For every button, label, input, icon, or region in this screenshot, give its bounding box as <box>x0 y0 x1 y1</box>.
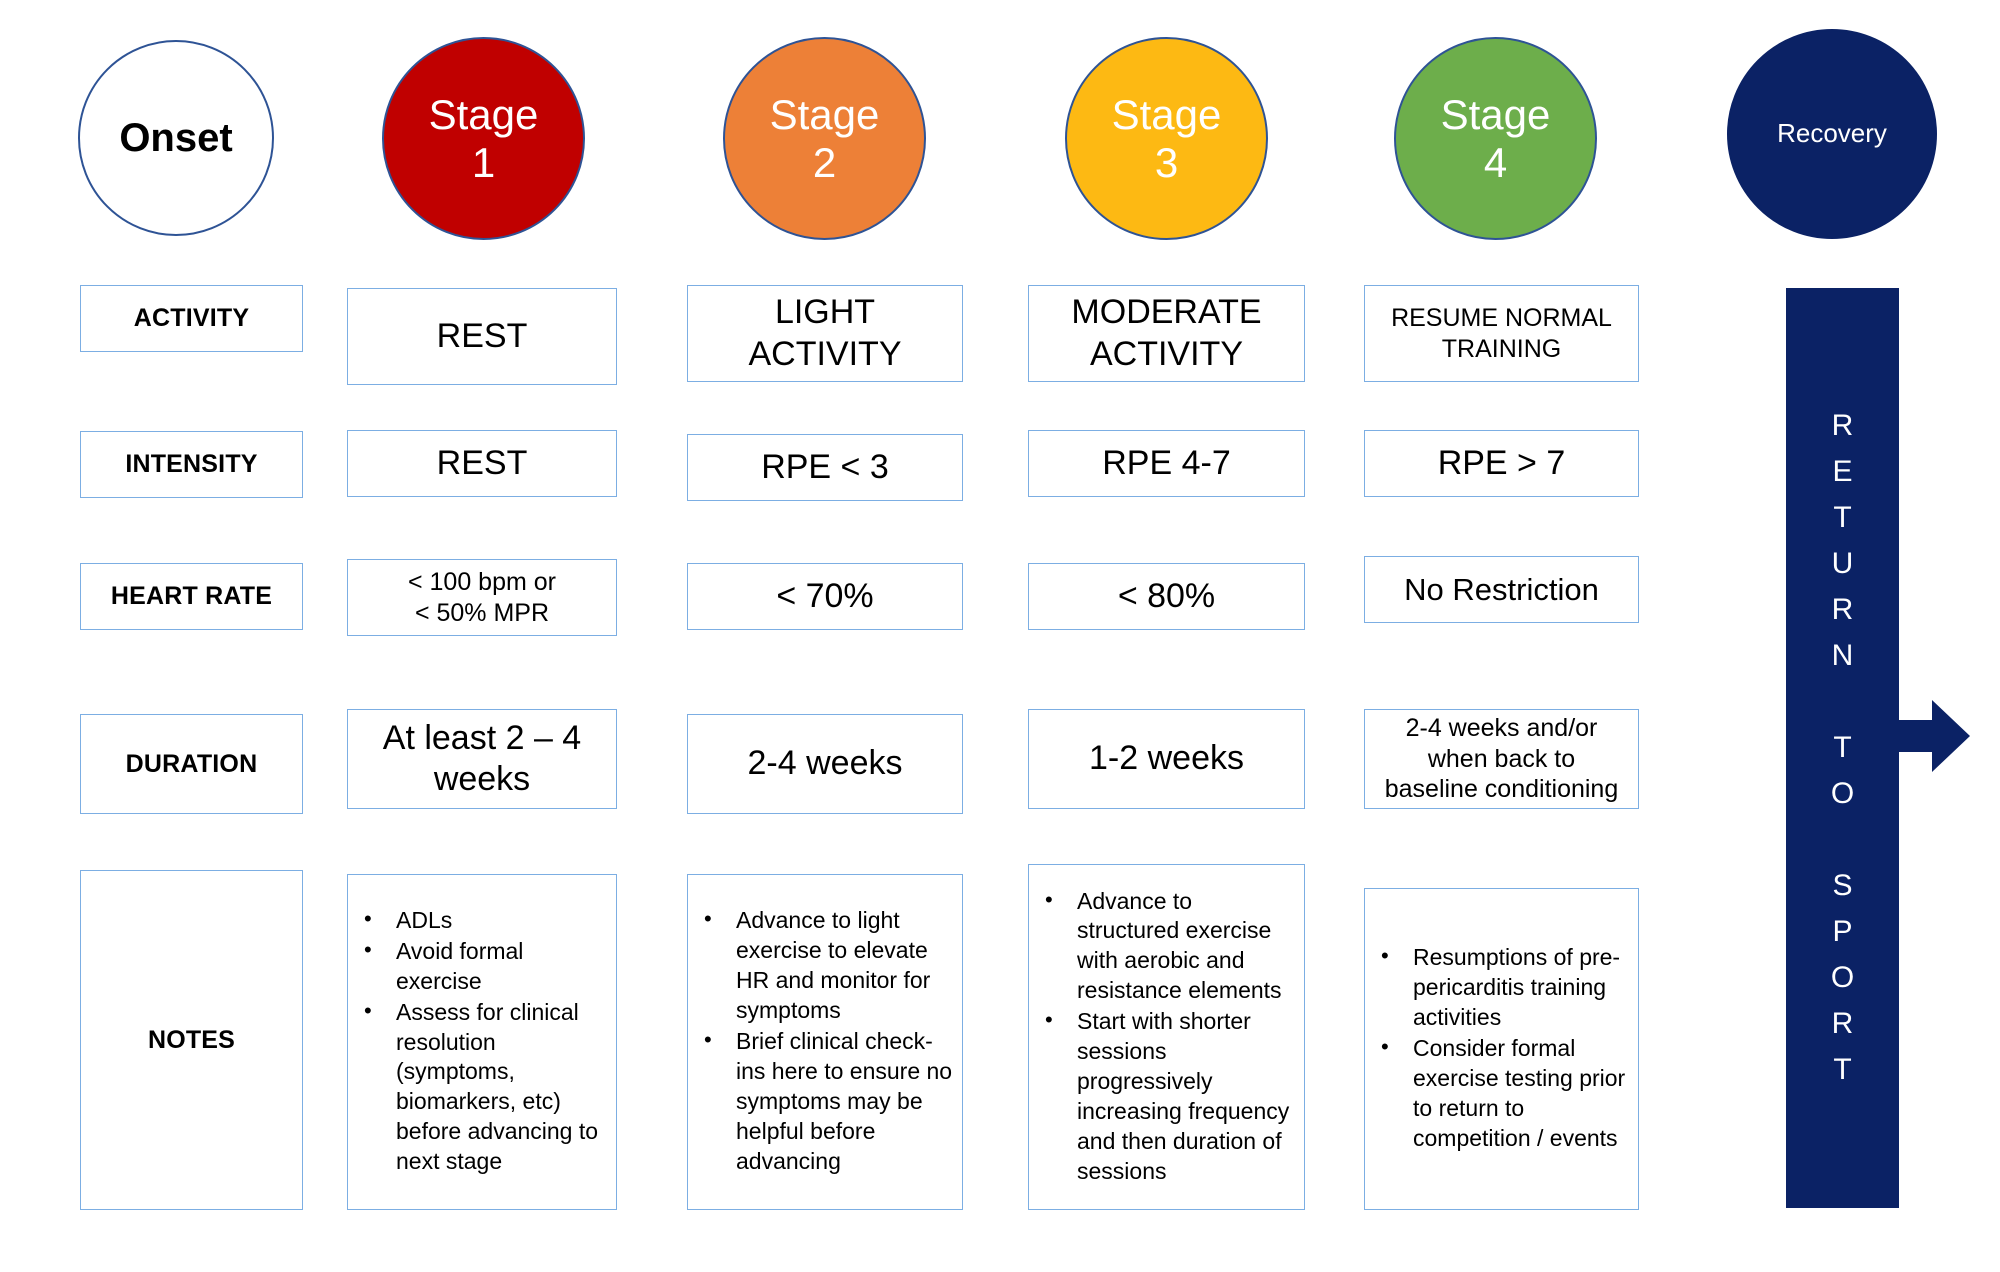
list-item: Consider formal exercise testing prior t… <box>1379 1034 1630 1154</box>
cell-heart-rate-stage-2: < 70% <box>687 563 963 630</box>
row-label-intensity-text: INTENSITY <box>125 449 257 480</box>
cell-activity-stage-3-text: MODERATE ACTIVITY <box>1071 292 1261 375</box>
cell-activity-stage-2: LIGHT ACTIVITY <box>687 285 963 382</box>
rts-letter: R <box>1832 1001 1854 1047</box>
circle-recovery: Recovery <box>1727 29 1937 239</box>
cell-heart-rate-stage-2-text: < 70% <box>776 576 873 617</box>
rts-letter: T <box>1833 1047 1851 1093</box>
notes-stage-1-list: ADLs Avoid formal exercise Assess for cl… <box>348 906 616 1178</box>
row-label-notes-text: NOTES <box>148 1025 235 1056</box>
cell-heart-rate-stage-1-text: < 100 bpm or < 50% MPR <box>408 567 556 628</box>
row-label-heart-rate-text: HEART RATE <box>111 581 272 612</box>
rts-letter: T <box>1833 725 1851 771</box>
notes-stage-4-list: Resumptions of pre-pericarditis training… <box>1365 943 1638 1154</box>
cell-duration-stage-2: 2-4 weeks <box>687 714 963 814</box>
cell-activity-stage-4-text: RESUME NORMAL TRAINING <box>1391 303 1612 364</box>
circle-stage-1: Stage 1 <box>382 37 585 240</box>
row-label-notes: NOTES <box>80 870 303 1210</box>
rts-letter: O <box>1831 771 1854 817</box>
cell-intensity-stage-2-text: RPE < 3 <box>761 447 889 488</box>
cell-duration-stage-3-text: 1-2 weeks <box>1089 738 1244 779</box>
row-label-duration: DURATION <box>80 714 303 814</box>
list-item: Brief clinical check-ins here to ensure … <box>702 1027 954 1176</box>
cell-intensity-stage-4: RPE > 7 <box>1364 430 1639 497</box>
cell-intensity-stage-3: RPE 4-7 <box>1028 430 1305 497</box>
rts-letter: O <box>1831 955 1854 1001</box>
cell-duration-stage-2-text: 2-4 weeks <box>748 743 903 784</box>
list-item: Start with shorter sessions progressivel… <box>1043 1007 1296 1186</box>
cell-heart-rate-stage-4-text: No Restriction <box>1404 571 1599 609</box>
rts-letter: S <box>1832 863 1852 909</box>
circle-stage-4: Stage 4 <box>1394 37 1597 240</box>
circle-recovery-label: Recovery <box>1777 119 1887 148</box>
list-item: Assess for clinical resolution (symptoms… <box>362 998 608 1177</box>
list-item: Resumptions of pre-pericarditis training… <box>1379 943 1630 1033</box>
circle-stage-3-label: Stage 3 <box>1112 91 1222 185</box>
row-label-duration-text: DURATION <box>126 749 258 780</box>
rts-letter: N <box>1832 633 1854 679</box>
diagram-canvas: Onset Stage 1 Stage 2 Stage 3 Stage 4 Re… <box>0 0 2000 1272</box>
list-item: Advance to light exercise to elevate HR … <box>702 906 954 1026</box>
rts-letter: E <box>1832 449 1852 495</box>
rts-letter: U <box>1832 541 1854 587</box>
rts-letter: R <box>1832 587 1854 633</box>
cell-intensity-stage-2: RPE < 3 <box>687 434 963 501</box>
notes-stage-3: Advance to structured exercise with aero… <box>1028 864 1305 1210</box>
cell-activity-stage-4: RESUME NORMAL TRAINING <box>1364 285 1639 382</box>
cell-intensity-stage-1-text: REST <box>437 443 528 484</box>
row-label-activity: ACTIVITY <box>80 285 303 352</box>
rts-letter: T <box>1833 495 1851 541</box>
notes-stage-3-list: Advance to structured exercise with aero… <box>1029 887 1304 1188</box>
cell-duration-stage-3: 1-2 weeks <box>1028 709 1305 809</box>
circle-onset: Onset <box>78 40 274 236</box>
notes-stage-2-list: Advance to light exercise to elevate HR … <box>688 906 962 1177</box>
cell-heart-rate-stage-1: < 100 bpm or < 50% MPR <box>347 559 617 636</box>
cell-heart-rate-stage-3: < 80% <box>1028 563 1305 630</box>
return-to-sport-bar: R E T U R N T O S P O R T <box>1786 288 1899 1208</box>
list-item: ADLs <box>362 906 608 936</box>
rts-letter-gap <box>1838 679 1846 725</box>
cell-duration-stage-4-text: 2-4 weeks and/or when back to baseline c… <box>1385 713 1619 805</box>
row-label-heart-rate: HEART RATE <box>80 563 303 630</box>
rts-letter: R <box>1832 403 1854 449</box>
cell-activity-stage-1-text: REST <box>437 316 528 357</box>
circle-stage-1-label: Stage 1 <box>429 91 539 185</box>
cell-intensity-stage-1: REST <box>347 430 617 497</box>
notes-stage-1: ADLs Avoid formal exercise Assess for cl… <box>347 874 617 1210</box>
cell-duration-stage-1: At least 2 – 4 weeks <box>347 709 617 809</box>
cell-duration-stage-4: 2-4 weeks and/or when back to baseline c… <box>1364 709 1639 809</box>
rts-letter: P <box>1832 909 1852 955</box>
cell-duration-stage-1-text: At least 2 – 4 weeks <box>383 718 581 801</box>
notes-stage-2: Advance to light exercise to elevate HR … <box>687 874 963 1210</box>
list-item: Avoid formal exercise <box>362 937 608 997</box>
cell-intensity-stage-3-text: RPE 4-7 <box>1102 443 1231 484</box>
cell-heart-rate-stage-3-text: < 80% <box>1118 576 1215 617</box>
circle-stage-4-label: Stage 4 <box>1441 91 1551 185</box>
circle-stage-2-label: Stage 2 <box>770 91 880 185</box>
cell-activity-stage-3: MODERATE ACTIVITY <box>1028 285 1305 382</box>
right-arrow-icon <box>1890 694 1972 778</box>
cell-activity-stage-2-text: LIGHT ACTIVITY <box>748 292 901 375</box>
cell-activity-stage-1: REST <box>347 288 617 385</box>
circle-stage-2: Stage 2 <box>723 37 926 240</box>
circle-onset-label: Onset <box>119 116 232 161</box>
rts-letter-gap <box>1838 817 1846 863</box>
cell-intensity-stage-4-text: RPE > 7 <box>1438 443 1566 484</box>
row-label-intensity: INTENSITY <box>80 431 303 498</box>
notes-stage-4: Resumptions of pre-pericarditis training… <box>1364 888 1639 1210</box>
row-label-activity-text: ACTIVITY <box>134 303 250 334</box>
list-item: Advance to structured exercise with aero… <box>1043 887 1296 1007</box>
cell-heart-rate-stage-4: No Restriction <box>1364 556 1639 623</box>
circle-stage-3: Stage 3 <box>1065 37 1268 240</box>
